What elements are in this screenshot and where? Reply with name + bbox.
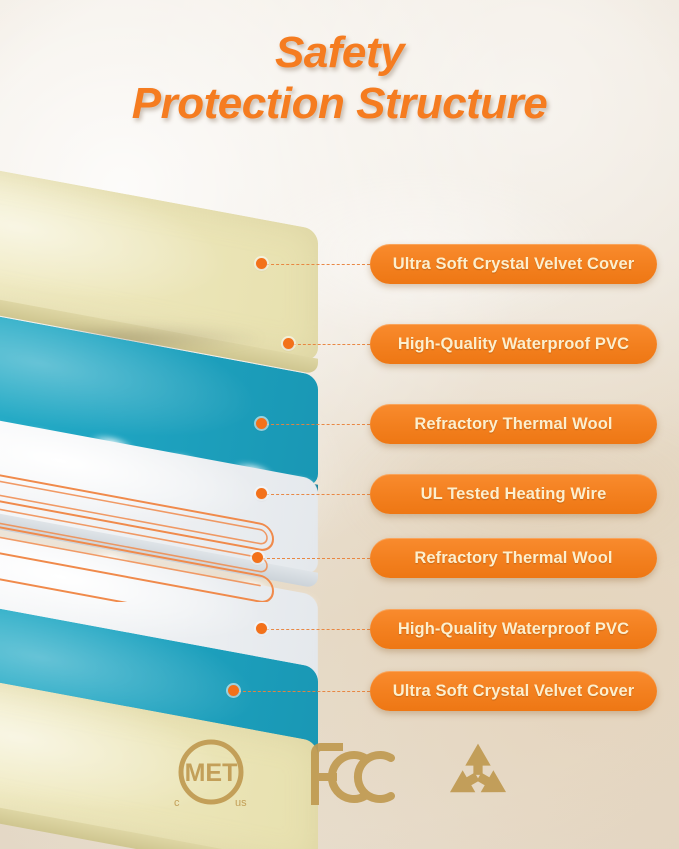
connector-dot-pvc-bottom — [256, 623, 267, 634]
connector-dot-heating-wire — [256, 488, 267, 499]
connector-dot-velvet-top — [256, 258, 267, 269]
certification-logos: MET c us — [0, 736, 679, 821]
product-infographic: Safety Protection Structure — [0, 0, 679, 849]
connector-line-heating-wire — [266, 494, 370, 495]
layer-label-text: Ultra Soft Crystal Velvet Cover — [393, 682, 635, 701]
connector-dot-wool-top — [256, 418, 267, 429]
connector-line-pvc-top — [293, 344, 370, 345]
connector-line-wool-top — [266, 424, 370, 425]
connector-line-wool-bottom — [262, 558, 370, 559]
layer-label-text: UL Tested Heating Wire — [421, 485, 607, 504]
svg-text:c: c — [174, 797, 180, 809]
layer-label-pvc-top[interactable]: High-Quality Waterproof PVC — [370, 324, 657, 364]
connector-dot-pvc-top — [283, 338, 294, 349]
svg-text:us: us — [235, 797, 247, 809]
connector-line-velvet-top — [266, 264, 370, 265]
layer-label-velvet-bottom[interactable]: Ultra Soft Crystal Velvet Cover — [370, 671, 657, 711]
layer-label-heating-wire[interactable]: UL Tested Heating Wire — [370, 474, 657, 514]
connector-line-pvc-bottom — [266, 629, 370, 630]
layer-label-text: Refractory Thermal Wool — [414, 415, 612, 434]
connector-dot-velvet-bottom — [228, 685, 239, 696]
layer-label-wool-top[interactable]: Refractory Thermal Wool — [370, 404, 657, 444]
layer-label-pvc-bottom[interactable]: High-Quality Waterproof PVC — [370, 609, 657, 649]
layer-label-velvet-top[interactable]: Ultra Soft Crystal Velvet Cover — [370, 244, 657, 284]
layer-label-text: High-Quality Waterproof PVC — [398, 335, 629, 354]
layer-label-text: High-Quality Waterproof PVC — [398, 620, 629, 639]
fcc-certification-logo — [303, 739, 395, 818]
layer-label-text: Refractory Thermal Wool — [414, 549, 612, 568]
met-certification-logo: MET c us — [165, 736, 257, 821]
layer-label-wool-bottom[interactable]: Refractory Thermal Wool — [370, 538, 657, 578]
recycle-certification-logo — [441, 739, 515, 818]
layer-label-text: Ultra Soft Crystal Velvet Cover — [393, 255, 635, 274]
connector-dot-wool-bottom — [252, 552, 263, 563]
svg-text:MET: MET — [184, 759, 237, 787]
layer-heating-wire — [0, 452, 340, 602]
connector-line-velvet-bottom — [238, 691, 370, 692]
